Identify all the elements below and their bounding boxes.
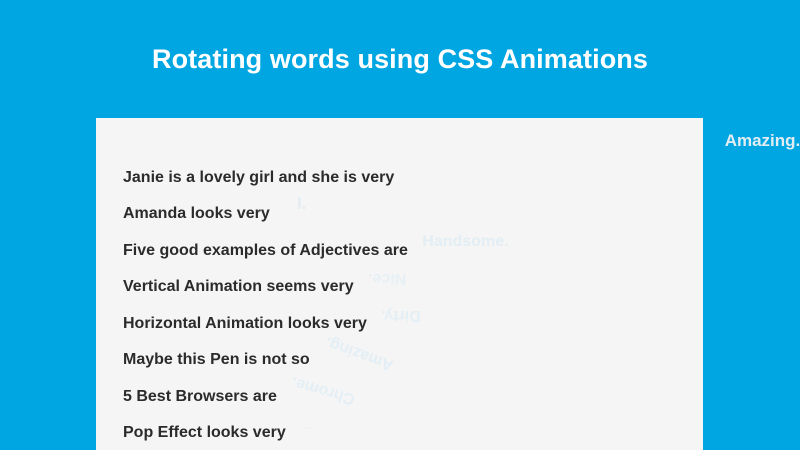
- demo-card: Janie is a lovely girl and she is very A…: [96, 118, 703, 450]
- rotating-word: Cool.: [304, 425, 310, 431]
- list-item: Janie is a lovely girl and she is very A…: [123, 156, 399, 182]
- list-item: Vertical Animation seems very Nice.: [123, 265, 358, 291]
- list-item: Maybe this Pen is not so Amazing.: [123, 338, 314, 364]
- rotating-word: Nice.: [368, 265, 406, 291]
- row-static-text: Maybe this Pen is not so: [123, 347, 310, 373]
- list-item: Pop Effect looks very Cool.: [123, 411, 290, 437]
- list-item: Amanda looks very Cool.: [123, 192, 274, 218]
- list-item: Five good examples of Adjectives are Han…: [123, 229, 412, 255]
- row-static-text: 5 Best Browsers are: [123, 384, 277, 410]
- page-title: Rotating words using CSS Animations: [0, 40, 800, 78]
- row-static-text: Vertical Animation seems very: [123, 274, 354, 300]
- list-item: Horizontal Animation looks very Dirty.: [123, 302, 371, 328]
- row-static-text: Janie is a lovely girl and she is very: [123, 165, 394, 191]
- rotating-word: Cool.: [266, 192, 306, 218]
- row-static-text: Pop Effect looks very: [123, 420, 286, 446]
- page-root: Rotating words using CSS Animations Jani…: [0, 0, 800, 450]
- row-static-text: Amanda looks very: [123, 201, 270, 227]
- rotating-word: Amazing.: [725, 128, 800, 154]
- rotating-word: Dirty.: [381, 302, 421, 328]
- row-static-text: Five good examples of Adjectives are: [123, 238, 408, 264]
- rotating-word: Handsome.: [422, 229, 508, 255]
- rotating-word: Chrome.: [289, 369, 359, 412]
- list-item: 5 Best Browsers are Chrome.: [123, 375, 281, 401]
